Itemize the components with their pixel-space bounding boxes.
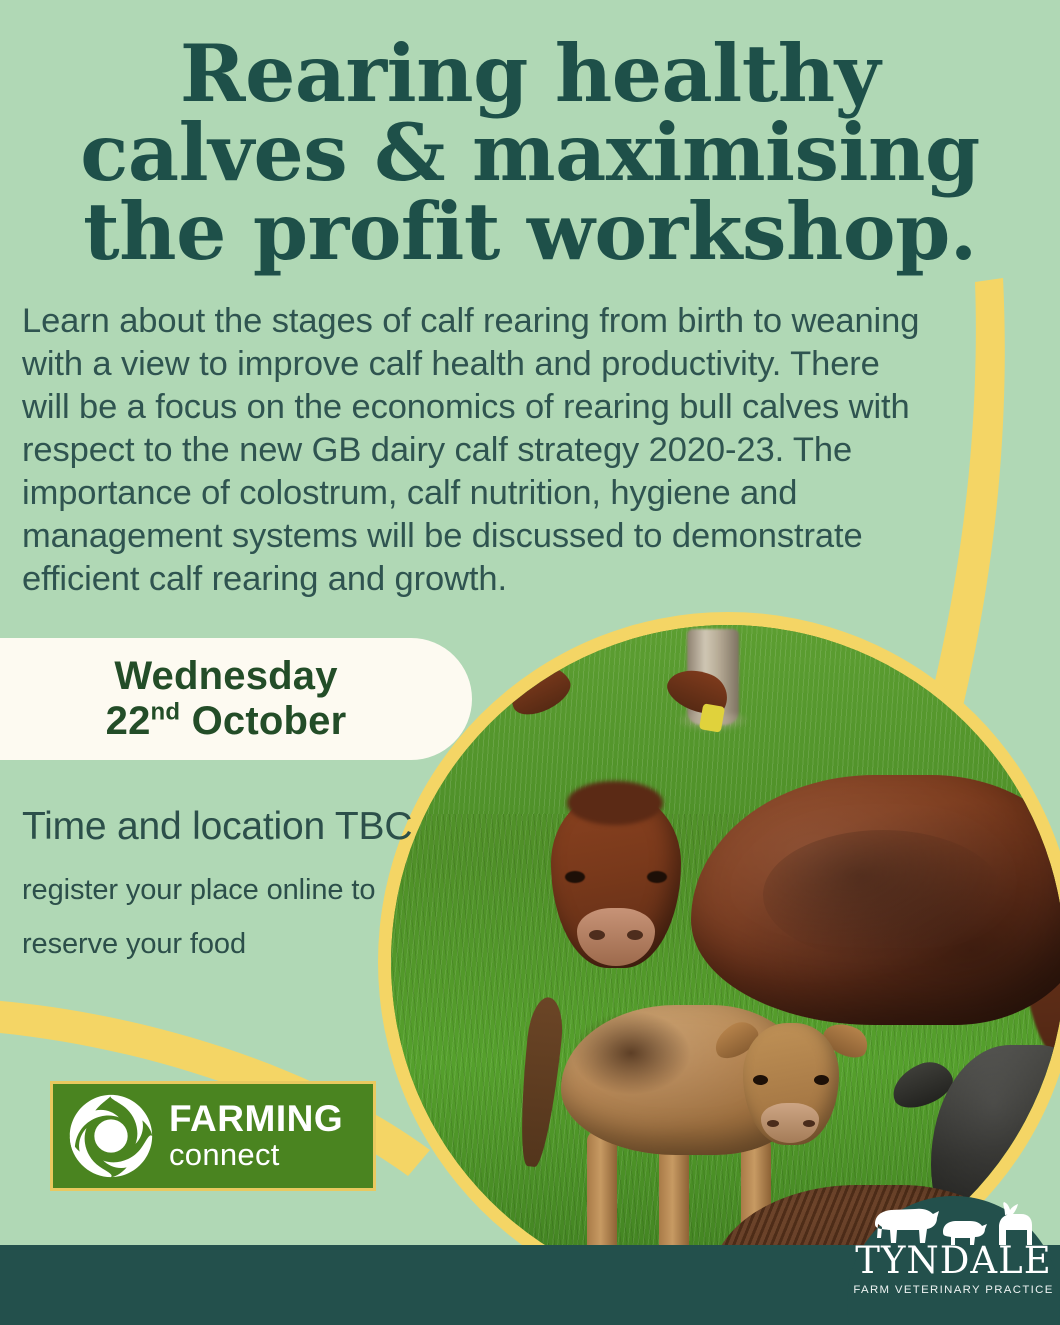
tan-calf-shading: [571, 1011, 691, 1095]
event-date-badge: Wednesday 22nd October: [0, 638, 472, 760]
cow-eye-left: [565, 871, 585, 883]
adult-cow-head: [551, 793, 681, 968]
tyndale-wordmark: TYNDALE: [847, 1242, 1060, 1279]
poster-canvas: Rearing healthy calves & maximising the …: [0, 0, 1060, 1325]
tyndale-logo[interactable]: TYNDALE FARM VETERINARY PRACTICE: [847, 1196, 1060, 1325]
farming-connect-wordmark: FARMING connect: [169, 1100, 343, 1172]
tan-calf-nostril-right: [803, 1120, 815, 1127]
event-date-line: 22nd October: [106, 700, 347, 743]
page-title: Rearing healthy calves & maximising the …: [44, 34, 1016, 271]
farming-connect-logo[interactable]: FARMING connect: [50, 1081, 376, 1191]
tyndale-tagline: FARM VETERINARY PRACTICE: [847, 1284, 1060, 1296]
farming-connect-top-word: FARMING: [169, 1100, 343, 1137]
tan-calf-eye-right: [814, 1075, 829, 1085]
register-line-2: reserve your food: [22, 928, 462, 961]
tan-calf-eye-left: [753, 1075, 768, 1085]
cow-nostril-left: [589, 930, 605, 940]
tan-calf-head: [743, 1023, 839, 1145]
event-day-name: Wednesday: [114, 655, 337, 698]
event-day-ordinal: nd: [151, 699, 181, 726]
farming-connect-bottom-word: connect: [169, 1139, 343, 1172]
time-location-text: Time and location TBC: [22, 805, 462, 849]
cow-poll: [567, 781, 663, 825]
swirl-icon: [59, 1087, 163, 1185]
event-month: October: [192, 699, 347, 743]
tan-calf-nostril-left: [767, 1120, 779, 1127]
event-day-number: 22: [106, 699, 151, 743]
tyndale-logo-inner: TYNDALE FARM VETERINARY PRACTICE: [847, 1196, 1060, 1325]
register-line-1: register your place online to: [22, 874, 462, 907]
cow-nostril-right: [627, 930, 643, 940]
description-text: Learn about the stages of calf rearing f…: [22, 300, 930, 601]
ear-tag: [699, 703, 725, 732]
cow-eye-right: [647, 871, 667, 883]
